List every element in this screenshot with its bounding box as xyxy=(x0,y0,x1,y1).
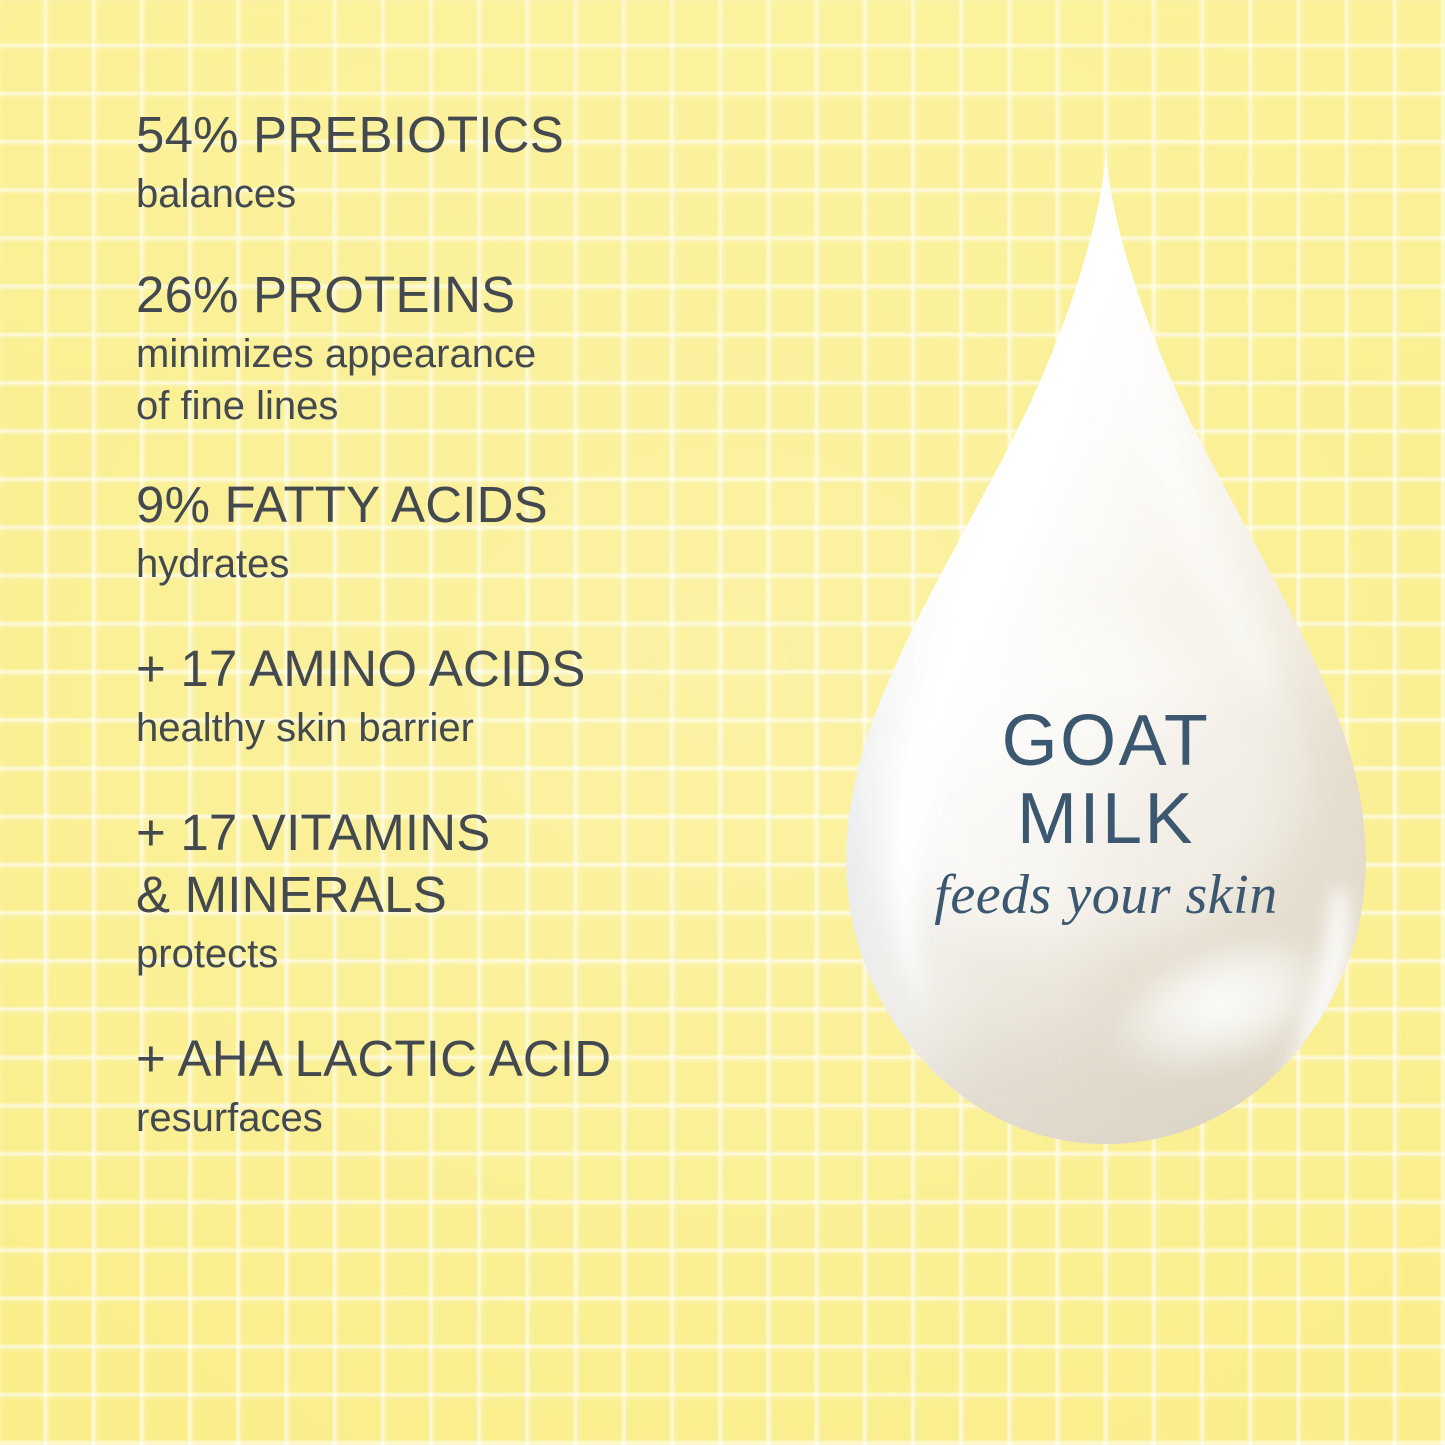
ingredient-headline: 54% PREBIOTICS xyxy=(136,104,816,166)
ingredient-benefit: hydrates xyxy=(136,538,816,590)
ingredient-headline: + 17 VITAMINS & MINERALS xyxy=(136,802,816,926)
ingredient-headline: 26% PROTEINS xyxy=(136,264,816,326)
ingredient-headline: 9% FATTY ACIDS xyxy=(136,474,816,536)
ingredient-item-vitamins-minerals: + 17 VITAMINS & MINERALS protects xyxy=(136,802,816,980)
ingredient-item-proteins: 26% PROTEINS minimizes appearance of fin… xyxy=(136,264,816,432)
ingredient-headline: + 17 AMINO ACIDS xyxy=(136,638,816,700)
ingredient-benefit: balances xyxy=(136,168,816,220)
ingredient-benefit: minimizes appearance of fine lines xyxy=(136,328,816,432)
ingredient-benefit: resurfaces xyxy=(136,1092,816,1144)
ingredient-item-aha-lactic-acid: + AHA LACTIC ACID resurfaces xyxy=(136,1028,816,1144)
infographic-canvas: 54% PREBIOTICS balances 26% PROTEINS min… xyxy=(0,0,1445,1445)
ingredient-headline: + AHA LACTIC ACID xyxy=(136,1028,816,1090)
ingredient-item-amino-acids: + 17 AMINO ACIDS healthy skin barrier xyxy=(136,638,816,754)
ingredient-item-fatty-acids: 9% FATTY ACIDS hydrates xyxy=(136,474,816,590)
ingredient-list: 54% PREBIOTICS balances 26% PROTEINS min… xyxy=(136,104,816,1144)
milk-droplet-icon xyxy=(826,148,1386,1158)
ingredient-item-prebiotics: 54% PREBIOTICS balances xyxy=(136,104,816,220)
ingredient-benefit: protects xyxy=(136,928,816,980)
ingredient-benefit: healthy skin barrier xyxy=(136,702,816,754)
milk-droplet: GOAT MILK feeds your skin xyxy=(826,148,1386,1158)
